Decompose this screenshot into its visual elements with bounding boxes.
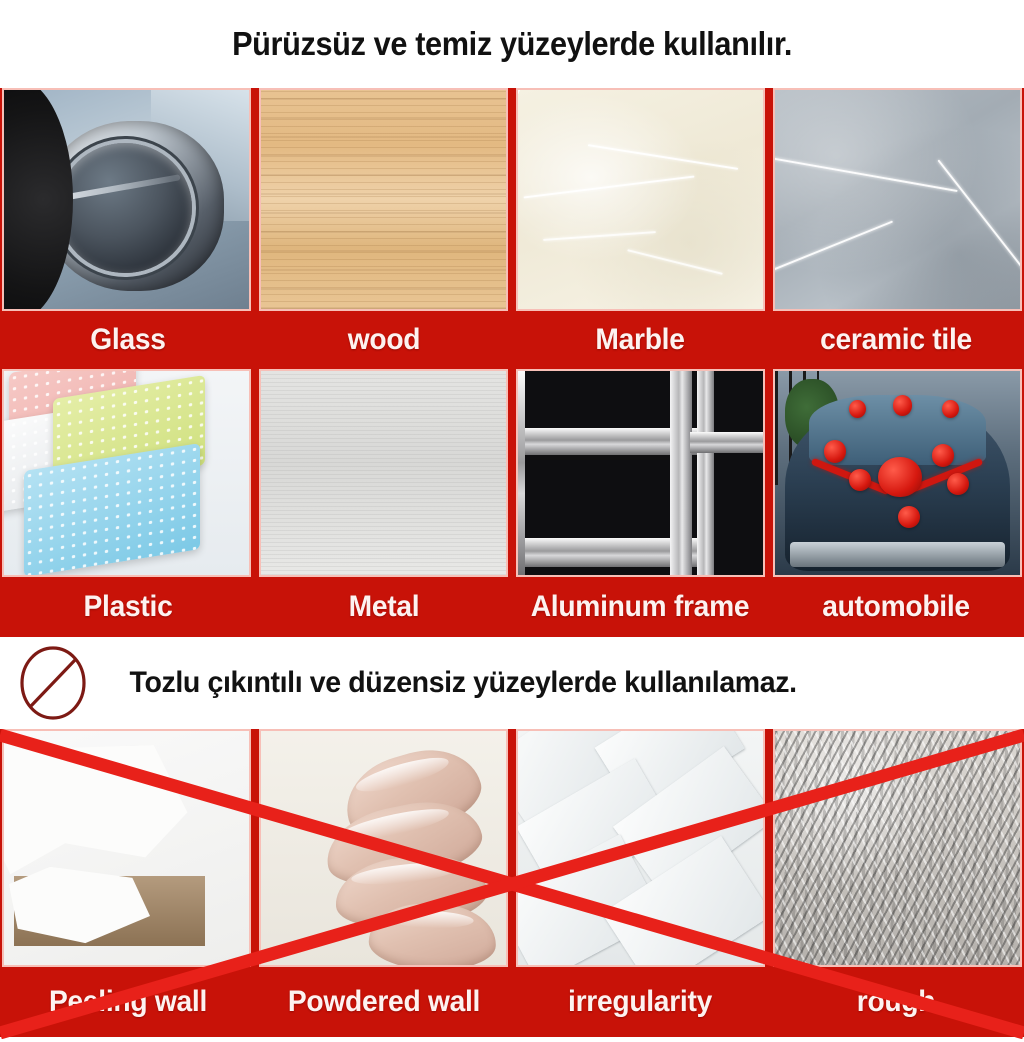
hand-touching-powdery-wall-photo — [261, 731, 506, 965]
surface-cell-glass[interactable] — [2, 88, 251, 311]
surface-cell-metal[interactable] — [259, 369, 508, 577]
rough-stucco-texture-photo — [775, 731, 1020, 965]
allowed-row-2-images — [0, 369, 1024, 577]
surface-cell-irregularity[interactable] — [516, 729, 765, 967]
surface-label-peeling-wall: Peeling wall — [8, 985, 249, 1019]
allowed-surfaces-section: Glass wood Marble ceramic tile — [0, 88, 1024, 637]
surface-label-wood: wood — [264, 323, 505, 357]
forbidden-images-row — [0, 729, 1024, 967]
surface-cell-aluminum-frame[interactable] — [516, 369, 765, 577]
allowed-row-1-images — [0, 88, 1024, 311]
surface-cell-powdered-wall[interactable] — [259, 729, 508, 967]
stacked-plastic-baskets-photo — [4, 371, 249, 575]
surface-cell-plastic[interactable] — [2, 369, 251, 577]
cream-marble-slab-photo — [518, 90, 763, 309]
brushed-metal-sheet-photo — [261, 371, 506, 575]
surface-label-metal: Metal — [264, 590, 505, 624]
surface-cell-marble[interactable] — [516, 88, 765, 311]
uneven-tile-surface-photo — [518, 731, 763, 965]
surface-cell-rough[interactable] — [773, 729, 1022, 967]
wood-grain-texture-photo — [261, 90, 506, 309]
surface-label-powdered-wall: Powdered wall — [264, 985, 505, 1019]
forbidden-labels-row: Peeling wall Powdered wall irregularity … — [0, 967, 1024, 1037]
surface-cell-ceramic-tile[interactable] — [773, 88, 1022, 311]
surface-label-rough: rough — [776, 985, 1017, 1019]
no-entry-prohibition-icon — [16, 643, 90, 723]
gray-ceramic-tile-photo — [775, 90, 1020, 309]
forbidden-surfaces-section: Peeling wall Powdered wall irregularity … — [0, 729, 1024, 1037]
surface-label-plastic: Plastic — [8, 590, 249, 624]
peeling-paint-wall-photo — [4, 731, 249, 965]
car-side-mirror-glass-photo — [4, 90, 249, 309]
surface-usage-infographic: Pürüzsüz ve temiz yüzeylerde kullanılır. — [0, 0, 1024, 1042]
aluminum-window-frame-photo — [518, 371, 763, 575]
surface-label-ceramic-tile: ceramic tile — [776, 323, 1017, 357]
warning-text: Tozlu çıkıntılı ve düzensiz yüzeylerde k… — [130, 666, 797, 700]
surface-label-irregularity: irregularity — [520, 985, 761, 1019]
page-title-bar: Pürüzsüz ve temiz yüzeylerde kullanılır. — [0, 0, 1024, 88]
allowed-row-2-labels: Plastic Metal Aluminum frame automobile — [0, 577, 1024, 637]
page-title: Pürüzsüz ve temiz yüzeylerde kullanılır. — [232, 25, 792, 63]
surface-cell-automobile[interactable] — [773, 369, 1022, 577]
surface-label-marble: Marble — [520, 323, 761, 357]
surface-cell-wood[interactable] — [259, 88, 508, 311]
warning-text-box: Tozlu çıkıntılı ve düzensiz yüzeylerde k… — [90, 652, 1014, 714]
warning-banner: Tozlu çıkıntılı ve düzensiz yüzeylerde k… — [0, 637, 1024, 729]
surface-label-automobile: automobile — [776, 590, 1017, 624]
surface-label-aluminum-frame: Aluminum frame — [520, 590, 761, 624]
allowed-row-1-labels: Glass wood Marble ceramic tile — [0, 311, 1024, 369]
surface-cell-peeling-wall[interactable] — [2, 729, 251, 967]
decorated-wedding-car-photo — [775, 371, 1020, 575]
surface-label-glass: Glass — [8, 323, 249, 357]
